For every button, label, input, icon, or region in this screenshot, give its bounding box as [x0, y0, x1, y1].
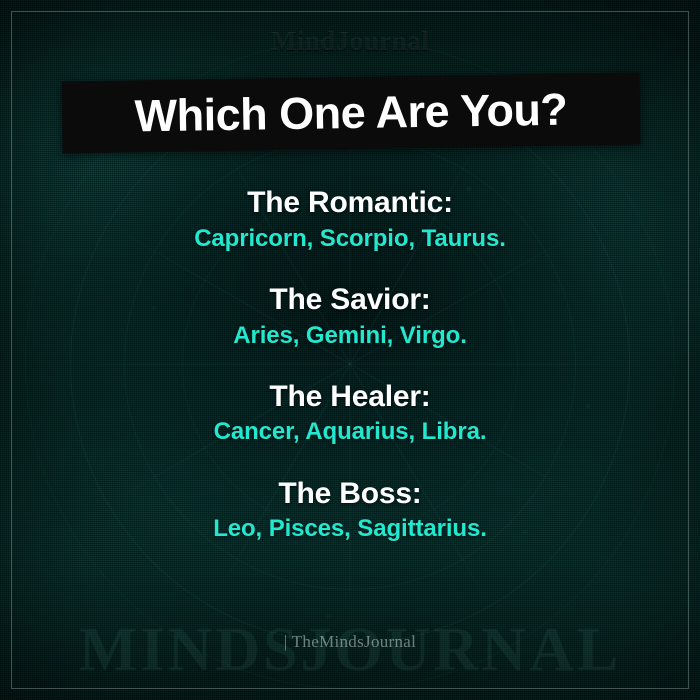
source-credit: | TheMindsJournal	[0, 632, 700, 652]
group-title: The Healer:	[0, 380, 700, 414]
top-watermark-text: MindJournal	[0, 26, 700, 57]
zodiac-personality-poster: MindJournal MINDSJOURNAL Which One Are Y…	[0, 0, 700, 700]
group-title: The Savior:	[0, 283, 700, 317]
personality-group-list: The Romantic: Capricorn, Scorpio, Taurus…	[0, 186, 700, 544]
personality-group: The Romantic: Capricorn, Scorpio, Taurus…	[0, 186, 700, 253]
group-signs: Aries, Gemini, Virgo.	[0, 322, 700, 350]
group-signs: Leo, Pisces, Sagittarius.	[0, 515, 700, 543]
personality-group: The Savior: Aries, Gemini, Virgo.	[0, 283, 700, 350]
group-title: The Boss:	[0, 477, 700, 511]
personality-group: The Healer: Cancer, Aquarius, Libra.	[0, 380, 700, 447]
group-signs: Capricorn, Scorpio, Taurus.	[0, 225, 700, 253]
personality-group: The Boss: Leo, Pisces, Sagittarius.	[0, 477, 700, 544]
poster-title: Which One Are You?	[61, 72, 640, 153]
group-signs: Cancer, Aquarius, Libra.	[0, 418, 700, 446]
group-title: The Romantic:	[0, 186, 700, 220]
